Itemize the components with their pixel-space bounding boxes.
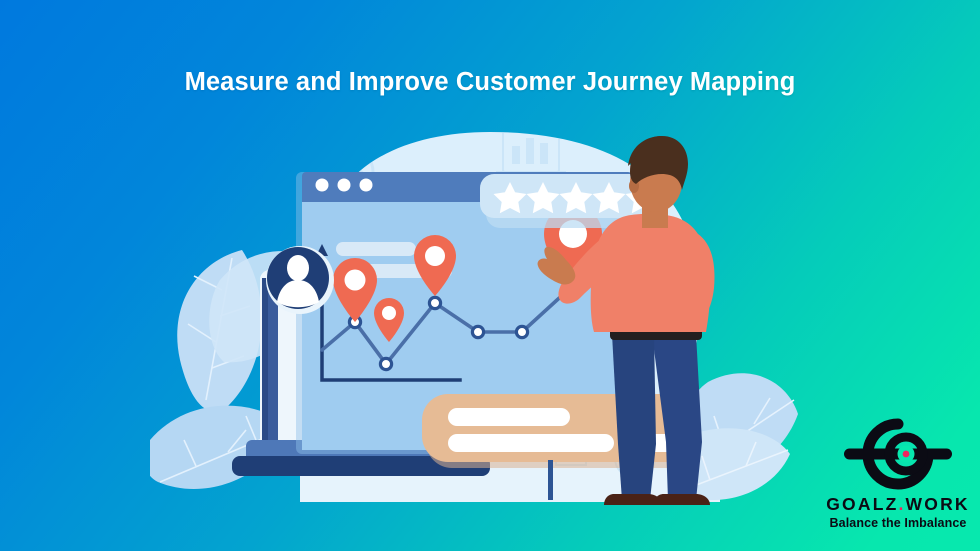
poster-canvas: Measure and Improve Customer Journey Map…	[0, 0, 980, 551]
shoe-left	[604, 494, 662, 505]
customer-journey-mapping-illustration	[150, 110, 810, 520]
shoe-right	[654, 494, 710, 505]
card-bar-2	[448, 434, 614, 452]
logo-word-part1: GOALZ	[826, 494, 898, 514]
card-bar-1	[448, 408, 570, 426]
user-avatar[interactable]	[266, 246, 334, 314]
page-title: Measure and Improve Customer Journey Map…	[0, 68, 980, 97]
browser-dot-3	[360, 179, 373, 192]
logo-tagline: Balance the Imbalance	[818, 516, 978, 530]
brand-logo[interactable]: GOALZ.WORK Balance the Imbalance	[818, 414, 978, 542]
logo-wordmark: GOALZ.WORK	[818, 494, 978, 515]
browser-dot-2	[338, 179, 351, 192]
logo-word-dot: .	[898, 494, 905, 514]
browser-dot-1	[316, 179, 329, 192]
target-bullseye-g-icon	[818, 414, 978, 494]
card-stem	[548, 460, 553, 500]
placeholder-bar-1	[336, 242, 416, 256]
logo-word-part2: WORK	[906, 494, 970, 514]
